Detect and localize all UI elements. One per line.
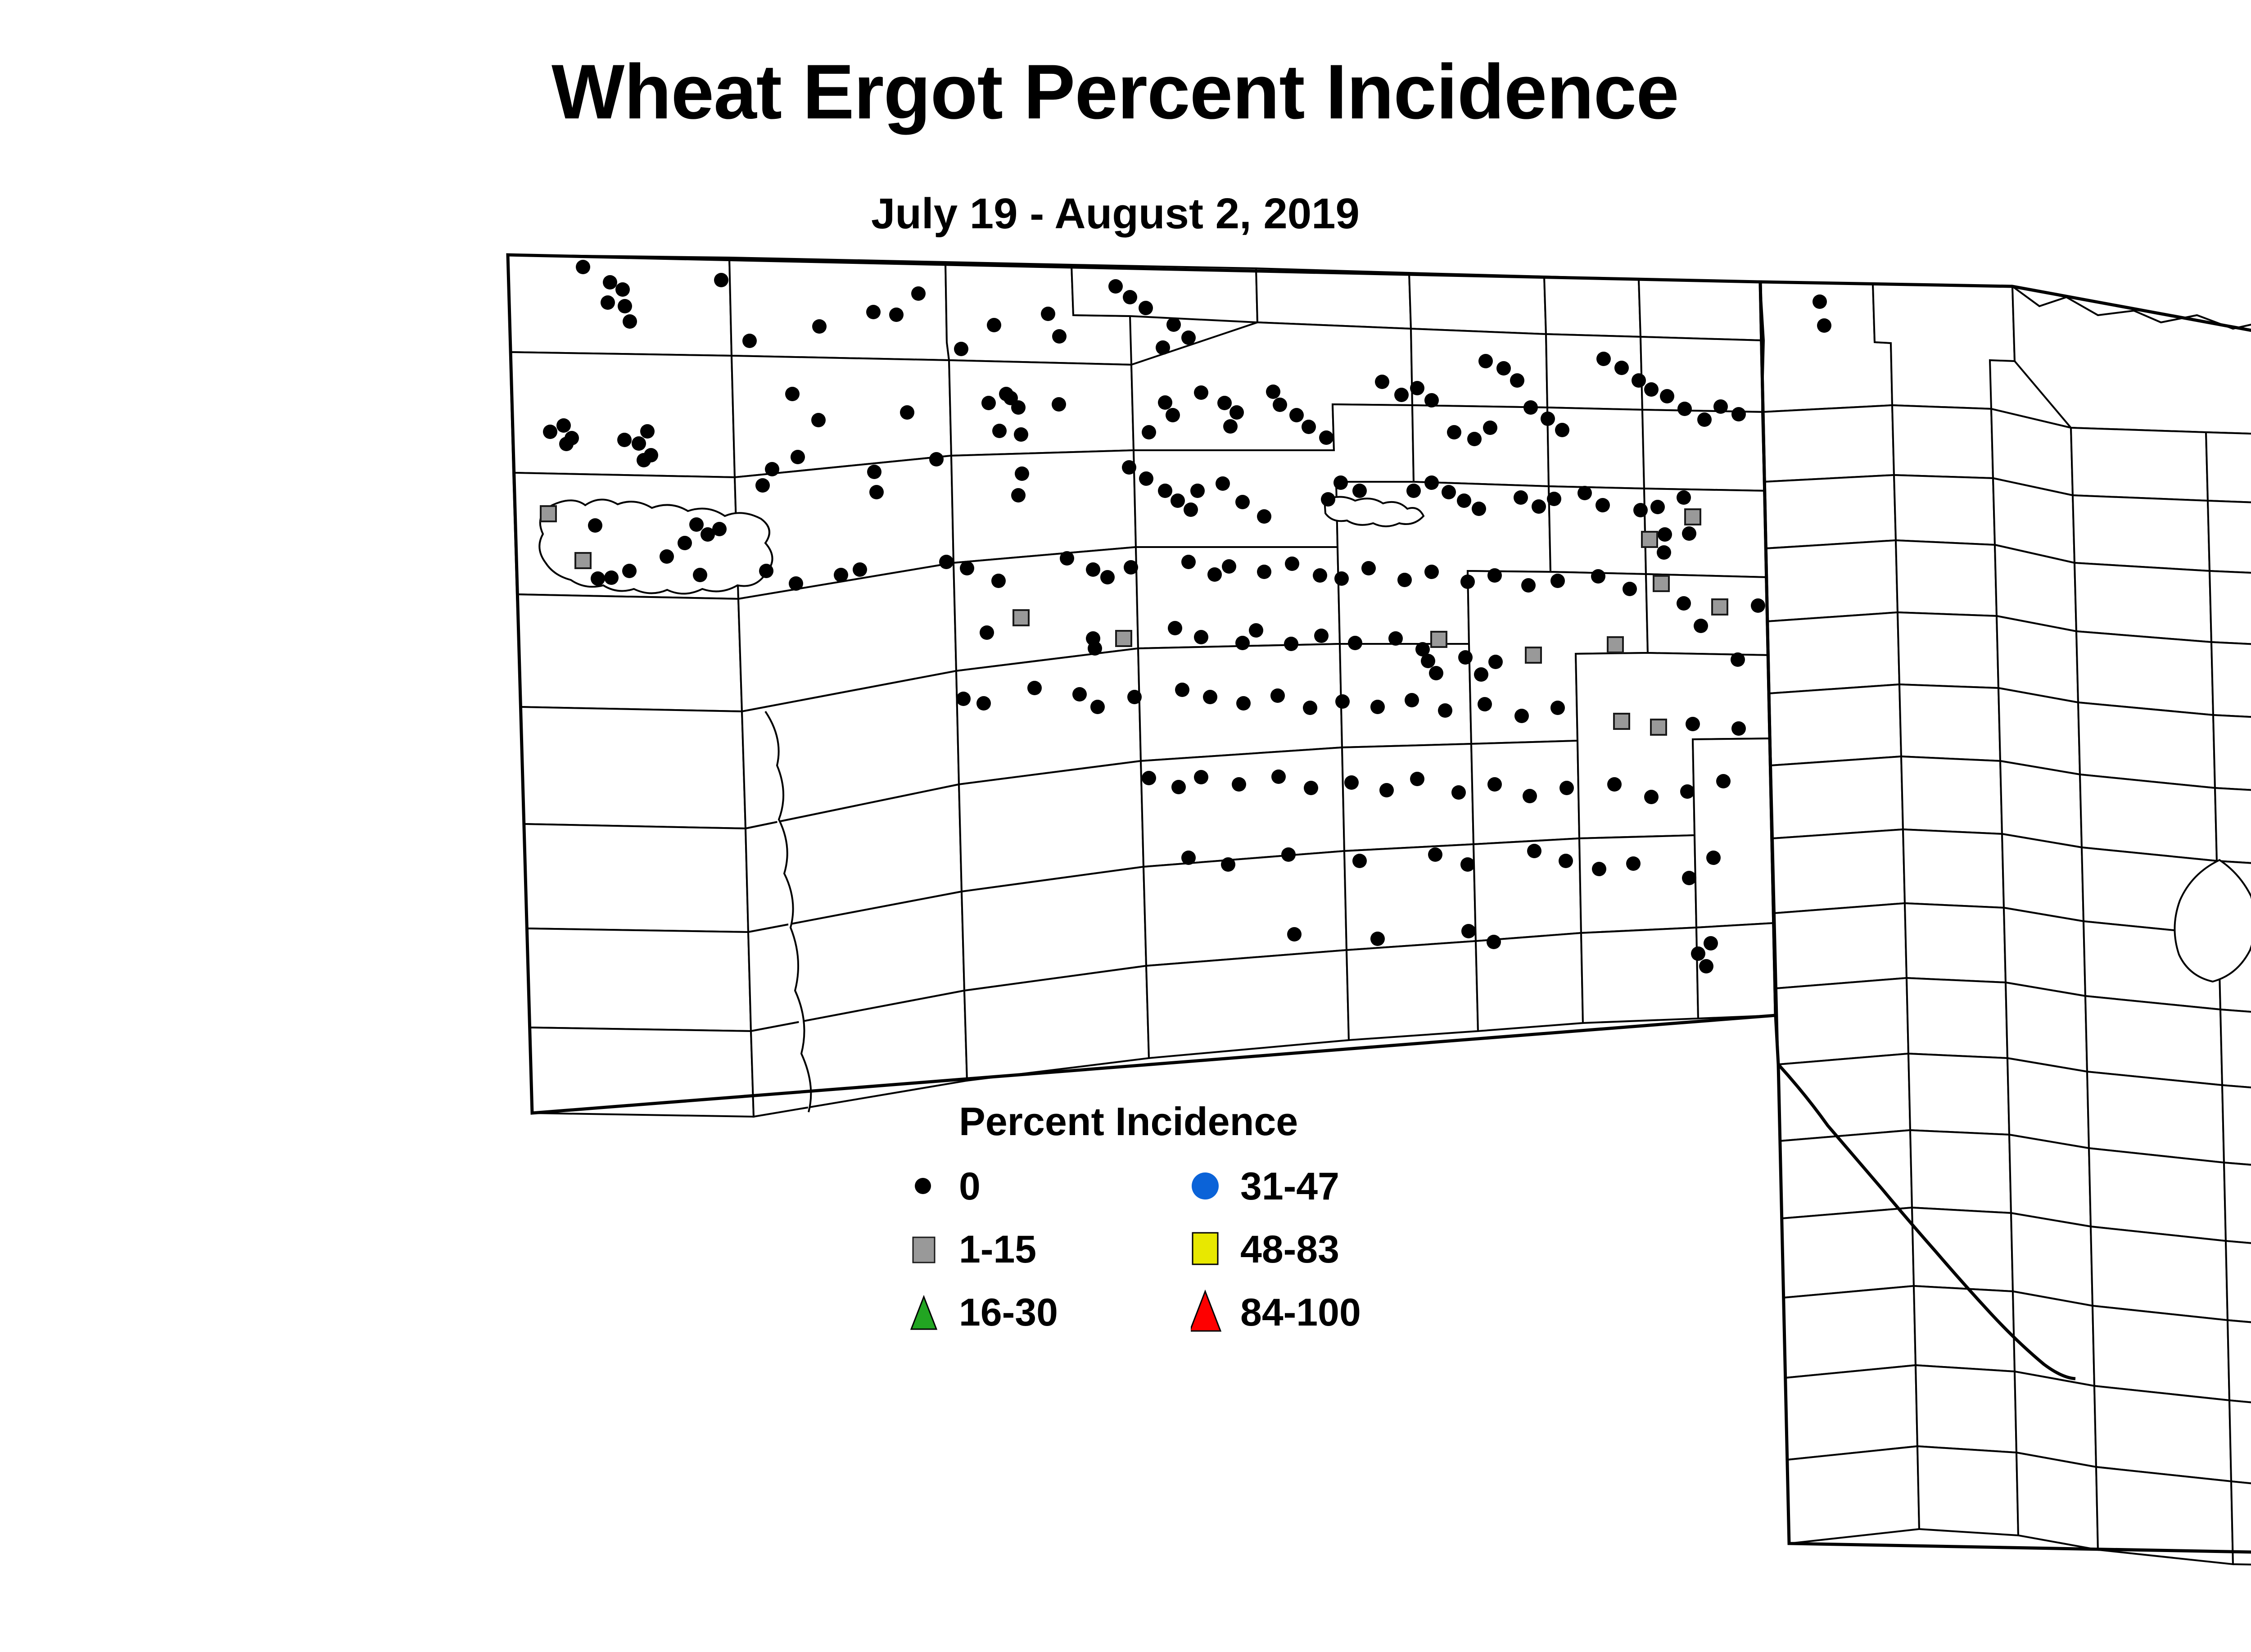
incidence-marker: [1697, 412, 1712, 427]
incidence-marker: [1319, 430, 1333, 445]
incidence-marker: [1405, 693, 1419, 707]
incidence-marker: [1596, 498, 1610, 512]
incidence-marker: [980, 625, 994, 640]
incidence-marker: [1712, 599, 1727, 615]
incidence-marker: [759, 564, 773, 578]
incidence-marker: [1222, 559, 1236, 574]
incidence-marker: [689, 517, 704, 532]
incidence-marker: [1731, 721, 1746, 736]
incidence-marker: [791, 450, 805, 464]
incidence-marker: [1190, 484, 1205, 498]
incidence-marker: [1527, 844, 1541, 858]
incidence-marker: [1379, 783, 1394, 797]
incidence-marker: [1428, 847, 1442, 862]
incidence-marker: [1235, 636, 1250, 650]
incidence-marker: [1289, 408, 1304, 422]
incidence-marker: [1699, 959, 1713, 973]
incidence-marker: [1591, 569, 1605, 584]
incidence-marker: [911, 286, 926, 301]
incidence-marker: [1181, 555, 1196, 569]
legend-symbol-circle-blue: [1191, 1162, 1231, 1207]
north-dakota-counties: [508, 255, 1776, 1117]
incidence-marker: [1139, 471, 1153, 486]
incidence-marker: [1713, 399, 1728, 414]
incidence-marker: [1158, 395, 1172, 410]
incidence-marker: [603, 275, 617, 290]
incidence-marker: [1706, 851, 1721, 865]
incidence-marker: [1488, 655, 1503, 669]
incidence-marker: [1614, 714, 1629, 729]
incidence-marker: [1644, 790, 1659, 804]
incidence-marker: [900, 405, 914, 420]
incidence-marker: [1334, 571, 1349, 586]
incidence-marker: [987, 318, 1001, 332]
incidence-marker: [812, 319, 827, 334]
legend-title: Percent Incidence: [959, 1099, 1298, 1145]
legend: Percent Incidence 0 1-15 16-30 31-47: [909, 1099, 1450, 1351]
incidence-marker: [1257, 565, 1271, 579]
incidence-marker: [1817, 318, 1831, 333]
incidence-marker: [1142, 771, 1156, 785]
incidence-marker: [1052, 329, 1067, 344]
incidence-marker: [1271, 769, 1286, 784]
incidence-marker: [1487, 935, 1501, 949]
incidence-marker: [693, 568, 707, 582]
incidence-marker: [1650, 500, 1665, 514]
incidence-marker: [853, 562, 867, 577]
incidence-marker: [811, 413, 826, 427]
incidence-marker: [1303, 701, 1317, 715]
incidence-marker: [1608, 637, 1623, 652]
incidence-marker: [1194, 630, 1208, 644]
incidence-marker: [640, 424, 655, 439]
incidence-marker: [1229, 405, 1244, 420]
incidence-marker: [1686, 717, 1700, 731]
incidence-marker: [1657, 545, 1671, 560]
incidence-marker: [1526, 647, 1541, 663]
map-figure: Wheat Ergot Percent Incidence July 19 - …: [0, 0, 2251, 1652]
incidence-marker: [992, 424, 1007, 438]
incidence-marker: [1015, 466, 1029, 481]
incidence-marker: [1223, 419, 1238, 434]
incidence-marker: [1344, 775, 1359, 790]
incidence-marker: [617, 433, 632, 447]
incidence-marker: [1175, 683, 1189, 697]
incidence-marker: [1510, 373, 1524, 388]
incidence-marker: [1314, 629, 1329, 643]
incidence-marker: [1232, 777, 1246, 792]
incidence-marker: [1060, 551, 1074, 566]
incidence-marker: [991, 574, 1006, 588]
incidence-marker: [678, 536, 692, 550]
incidence-marker: [576, 260, 590, 274]
incidence-marker: [960, 561, 974, 575]
incidence-marker: [1487, 568, 1502, 583]
incidence-marker: [623, 314, 637, 329]
incidence-marker: [1090, 700, 1105, 714]
incidence-marker: [1333, 475, 1348, 490]
incidence-marker: [1682, 871, 1696, 885]
incidence-marker: [1685, 509, 1700, 525]
incidence-marker: [1370, 932, 1385, 946]
incidence-marker: [1171, 493, 1185, 508]
incidence-marker: [1461, 924, 1476, 938]
incidence-marker: [1139, 301, 1153, 315]
legend-label-31-47: 31-47: [1240, 1164, 1339, 1209]
legend-symbol-triangle-green: [909, 1288, 950, 1333]
incidence-marker: [1235, 495, 1250, 509]
incidence-marker: [1550, 574, 1565, 588]
incidence-marker: [601, 295, 615, 310]
incidence-marker: [1731, 652, 1745, 667]
incidence-marker: [1472, 502, 1486, 516]
incidence-marker: [1041, 307, 1055, 321]
incidence-marker: [1523, 789, 1537, 803]
incidence-marker: [1483, 421, 1497, 435]
incidence-marker: [1421, 654, 1435, 668]
incidence-marker: [1467, 432, 1482, 446]
incidence-marker: [1514, 709, 1529, 723]
legend-symbol-square-yellow: [1191, 1225, 1231, 1270]
incidence-marker: [1614, 361, 1629, 375]
incidence-marker: [1677, 402, 1692, 416]
incidence-marker: [1677, 596, 1691, 611]
incidence-marker: [1658, 527, 1672, 542]
incidence-marker: [1203, 690, 1217, 704]
incidence-marker: [1207, 567, 1222, 582]
incidence-marker: [789, 576, 803, 591]
incidence-marker: [1302, 420, 1316, 434]
incidence-marker: [1559, 781, 1574, 795]
incidence-marker: [1654, 576, 1669, 591]
incidence-marker: [1660, 389, 1674, 403]
incidence-marker: [1284, 637, 1298, 651]
incidence-marker: [1451, 785, 1466, 800]
incidence-marker: [1123, 290, 1137, 304]
incidence-marker: [1592, 862, 1606, 876]
incidence-marker: [956, 692, 971, 706]
incidence-marker: [1458, 650, 1473, 665]
incidence-marker: [1388, 631, 1403, 646]
incidence-marker: [1257, 509, 1271, 524]
incidence-marker: [1394, 388, 1409, 402]
incidence-marker: [1116, 631, 1131, 646]
incidence-marker: [1236, 696, 1251, 711]
incidence-marker: [1751, 598, 1765, 613]
legend-symbol-triangle-red: [1191, 1288, 1231, 1333]
incidence-marker: [1361, 561, 1376, 575]
legend-symbol-circle-small-black: [909, 1162, 950, 1207]
incidence-marker: [1406, 484, 1421, 498]
incidence-marker: [1410, 381, 1424, 395]
incidence-marker: [1352, 484, 1367, 498]
incidence-marker: [1550, 701, 1565, 715]
legend-label-48-83: 48-83: [1240, 1227, 1339, 1272]
incidence-marker: [1424, 393, 1439, 407]
legend-symbol-square-gray: [909, 1225, 950, 1270]
incidence-marker: [834, 568, 848, 582]
incidence-marker: [1691, 946, 1705, 961]
incidence-marker: [1596, 352, 1611, 366]
incidence-marker: [1547, 492, 1561, 506]
incidence-marker: [1514, 490, 1528, 505]
incidence-marker: [1642, 532, 1657, 547]
incidence-marker: [1424, 565, 1439, 579]
incidence-marker: [981, 396, 996, 410]
incidence-marker: [1321, 492, 1335, 507]
incidence-marker: [1181, 851, 1196, 865]
incidence-marker: [1370, 700, 1385, 714]
incidence-marker: [1216, 476, 1230, 491]
incidence-marker: [1221, 857, 1235, 872]
incidence-marker: [591, 571, 605, 586]
incidence-marker: [1287, 927, 1302, 941]
incidence-marker: [1011, 400, 1026, 415]
legend-label-84-100: 84-100: [1240, 1290, 1361, 1335]
incidence-marker: [1424, 475, 1439, 490]
incidence-marker: [1285, 557, 1299, 571]
incidence-marker: [1266, 385, 1280, 399]
incidence-marker: [1694, 619, 1708, 633]
incidence-marker: [866, 305, 881, 319]
incidence-marker: [1731, 407, 1746, 421]
incidence-marker: [1249, 623, 1263, 638]
incidence-marker: [1682, 526, 1696, 541]
incidence-marker: [1184, 502, 1198, 517]
incidence-marker: [1158, 484, 1172, 498]
incidence-marker: [785, 387, 800, 401]
incidence-marker: [1348, 636, 1362, 650]
incidence-marker: [1474, 667, 1488, 682]
incidence-marker: [615, 282, 630, 297]
incidence-marker: [869, 485, 884, 499]
incidence-marker: [1447, 425, 1461, 439]
incidence-marker: [1496, 361, 1511, 376]
incidence-marker: [939, 555, 954, 569]
incidence-marker: [1168, 621, 1182, 635]
legend-label-1-15: 1-15: [959, 1227, 1036, 1272]
incidence-marker: [1181, 330, 1196, 345]
incidence-marker: [1457, 493, 1471, 508]
incidence-marker: [1541, 412, 1555, 426]
incidence-marker: [999, 387, 1013, 401]
incidence-marker: [1521, 578, 1536, 593]
incidence-marker: [929, 452, 944, 466]
incidence-marker: [1352, 854, 1367, 868]
incidence-marker: [1532, 499, 1546, 514]
incidence-marker: [765, 462, 779, 476]
incidence-marker: [622, 564, 637, 578]
incidence-marker: [556, 418, 571, 433]
incidence-marker: [1217, 396, 1232, 410]
legend-label-16-30: 16-30: [959, 1290, 1058, 1335]
incidence-marker: [1487, 777, 1502, 792]
incidence-marker: [575, 553, 591, 568]
incidence-marker: [1171, 780, 1186, 794]
incidence-marker: [1578, 486, 1592, 500]
incidence-marker: [1166, 317, 1181, 332]
incidence-marker: [660, 549, 674, 564]
incidence-marker: [1632, 373, 1646, 388]
incidence-marker: [1166, 408, 1180, 422]
incidence-marker: [1607, 777, 1622, 792]
incidence-marker: [1431, 632, 1446, 647]
incidence-marker: [712, 522, 727, 536]
incidence-marker: [1194, 770, 1208, 784]
incidence-marker: [1460, 857, 1475, 872]
incidence-marker: [1704, 936, 1718, 950]
incidence-marker: [1013, 610, 1029, 625]
incidence-marker: [1523, 400, 1538, 415]
incidence-marker: [1626, 856, 1641, 871]
incidence-marker: [1438, 703, 1452, 718]
incidence-marker: [1716, 774, 1731, 788]
incidence-marker: [1011, 488, 1026, 502]
incidence-marker: [604, 570, 619, 585]
incidence-marker: [1194, 385, 1208, 400]
incidence-marker: [1677, 490, 1691, 505]
incidence-marker: [755, 478, 770, 493]
incidence-marker: [1680, 784, 1695, 799]
incidence-marker: [1813, 294, 1827, 309]
incidence-marker: [1644, 382, 1659, 397]
incidence-marker: [1027, 681, 1042, 695]
incidence-marker: [1442, 485, 1456, 499]
incidence-marker: [1281, 847, 1296, 862]
legend-label-0: 0: [959, 1164, 981, 1209]
incidence-marker: [1478, 354, 1493, 368]
incidence-marker: [1623, 582, 1637, 596]
incidence-marker: [742, 334, 757, 348]
minnesota-counties: [1760, 282, 2251, 1567]
incidence-marker: [1124, 560, 1138, 575]
incidence-marker: [1142, 425, 1156, 439]
incidence-marker: [1429, 666, 1443, 680]
incidence-marker: [1410, 772, 1424, 786]
incidence-marker: [1052, 397, 1066, 412]
incidence-marker: [543, 425, 557, 439]
incidence-marker: [889, 308, 904, 322]
incidence-marker: [867, 465, 881, 479]
incidence-marker: [618, 299, 632, 313]
incidence-marker: [632, 436, 646, 451]
incidence-marker: [1100, 570, 1115, 584]
incidence-marker: [1014, 427, 1028, 442]
map-canvas: [0, 0, 2251, 1652]
incidence-marker: [1397, 573, 1412, 587]
incidence-marker: [1460, 575, 1475, 589]
incidence-marker: [1375, 375, 1389, 389]
incidence-marker: [1478, 697, 1492, 711]
incidence-marker: [1555, 423, 1569, 437]
incidence-marker: [588, 518, 602, 533]
incidence-marker: [1304, 781, 1318, 795]
incidence-marker: [714, 273, 728, 287]
incidence-marker: [1072, 687, 1087, 702]
incidence-marker: [541, 506, 556, 521]
incidence-marker: [1088, 641, 1102, 656]
incidence-marker: [954, 342, 968, 356]
incidence-marker: [1270, 688, 1285, 703]
incidence-marker: [1651, 720, 1666, 735]
incidence-marker: [637, 453, 651, 467]
incidence-marker: [1273, 398, 1287, 412]
incidence-marker: [1108, 279, 1123, 294]
incidence-marker: [1086, 562, 1100, 577]
incidence-marker: [1127, 690, 1142, 704]
incidence-marker: [1122, 460, 1136, 475]
incidence-marker: [1335, 694, 1350, 709]
incidence-marker: [559, 437, 574, 451]
incidence-marker: [1156, 340, 1170, 355]
incidence-marker: [1559, 854, 1573, 868]
incidence-marker: [1633, 503, 1648, 517]
incidence-marker: [976, 696, 991, 711]
incidence-marker: [1313, 568, 1327, 583]
